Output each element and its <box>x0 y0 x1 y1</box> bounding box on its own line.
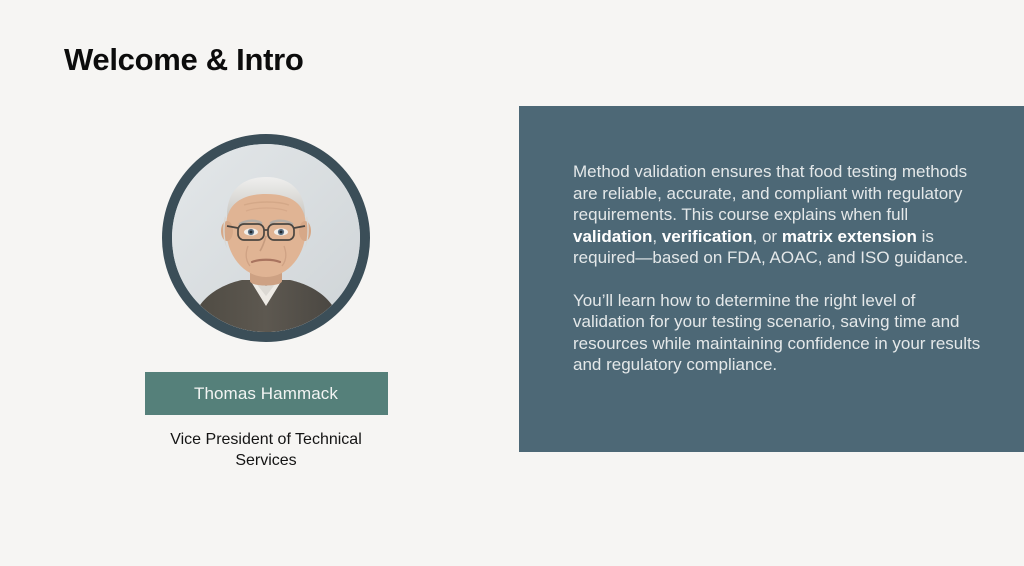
paragraph-1-bold-verification: verification <box>662 227 753 246</box>
page-title: Welcome & Intro <box>64 40 304 80</box>
avatar-ring <box>162 134 370 342</box>
paragraph-1-segment-2: , <box>652 227 661 246</box>
speaker-card: Thomas Hammack Vice President of Technic… <box>105 134 427 471</box>
paragraph-1-bold-matrix-extension: matrix extension <box>782 227 917 246</box>
speaker-role: Vice President of Technical Services <box>141 429 391 471</box>
info-paragraph-1: Method validation ensures that food test… <box>573 161 986 269</box>
paragraph-1-bold-validation: validation <box>573 227 652 246</box>
info-paragraph-2: You’ll learn how to determine the right … <box>573 290 986 376</box>
presentation-slide: Welcome & Intro <box>0 0 1024 566</box>
avatar <box>172 144 360 332</box>
paragraph-1-segment-3: , or <box>753 227 782 246</box>
paragraph-1-segment-1: Method validation ensures that food test… <box>573 162 967 224</box>
portrait-photo-icon <box>172 144 360 332</box>
speaker-name-badge: Thomas Hammack <box>145 372 388 415</box>
info-panel: Method validation ensures that food test… <box>519 106 1024 452</box>
